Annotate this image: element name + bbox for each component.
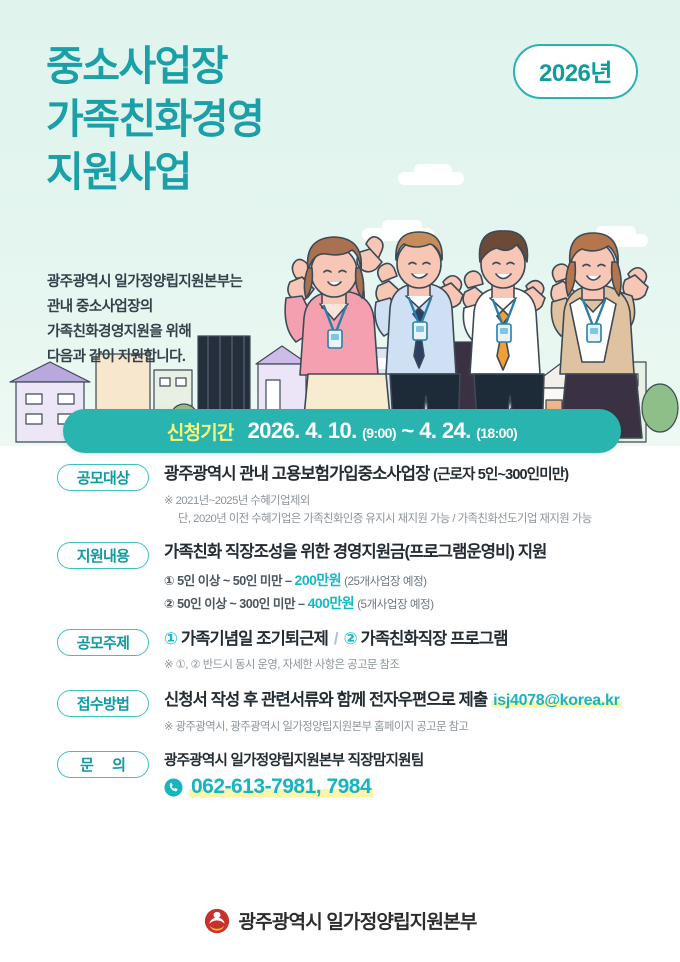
section-body-contact: 광주광역시 일가정양립지원본부 직장맘지원팀 062-613-7981, 798… (149, 749, 680, 799)
section-body-support: 가족친화 직장조성을 위한 경영지원금(프로그램운영비) 지원 ① 5인 이상 … (149, 540, 680, 615)
section-heading-target: 광주광역시 관내 고용보험가입중소사업장 (근로자 5인~300인미만) (164, 462, 680, 487)
section-note-submission: ※ 광주광역시, 광주광역시 일가정양립지원본부 홈페이지 공고문 참고 (164, 719, 680, 737)
period-end-time: (18:00) (476, 425, 517, 441)
title-line-1: 중소사업장 (46, 40, 263, 93)
cloud-2 (414, 164, 452, 176)
year-badge: 2026년 (513, 44, 638, 99)
section-body-target: 광주광역시 관내 고용보험가입중소사업장 (근로자 5인~300인미만) ※ 2… (149, 462, 680, 528)
contact-phone-number[interactable]: 062-613-7981, 7984 (189, 775, 373, 799)
support-detail-2-prefix: ② 50인 이상 ~ 300인 미만 – (164, 597, 305, 611)
section-body-topic: ① 가족기념일 조기퇴근제/② 가족친화직장 프로그램 ※ ①, ② 반드시 동… (149, 627, 680, 675)
title-line-3: 지원사업 (46, 146, 263, 199)
sections-area: 공모대상 광주광역시 관내 고용보험가입중소사업장 (근로자 5인~300인미만… (0, 462, 680, 804)
support-detail-2-amount: 400만원 (308, 595, 355, 611)
gwangju-city-logo-icon (204, 908, 230, 934)
section-heading-support: 가족친화 직장조성을 위한 경영지원금(프로그램운영비) 지원 (164, 540, 680, 564)
support-detail-2-tail: (5개사업장 예정) (357, 598, 433, 611)
period-start-date: 2026. 4. 10. (248, 418, 357, 443)
topic-1-label: 가족기념일 조기퇴근제 (181, 630, 328, 648)
section-note-target: ※ 2021년~2025년 수혜기업제외 단, 2020년 이전 수혜기업은 가… (164, 493, 680, 528)
poster-title: 중소사업장 가족친화경영 지원사업 (46, 40, 263, 199)
support-detail-1-prefix: ① 5인 이상 ~ 50인 미만 – (164, 574, 292, 588)
support-detail-1-tail: (25개사업장 예정) (344, 575, 426, 588)
target-note-1: ※ 2021년~2025년 수혜기업제외 (164, 495, 310, 507)
intro-line-3: 가족친화경영지원을 위해 (47, 320, 242, 345)
footer-organization-name: 광주광역시 일가정양립지원본부 (239, 907, 477, 934)
section-pill-topic: 공모주제 (57, 629, 149, 656)
target-note-2: 단, 2020년 이전 수혜기업은 가족친화인증 유지시 재지원 가능 / 가족… (164, 511, 680, 529)
title-line-2: 가족친화경영 (46, 93, 263, 146)
intro-line-2: 관내 중소사업장의 (47, 295, 242, 320)
period-label: 신청기간 (167, 418, 234, 445)
intro-paragraph: 광주광역시 일가정양립지원본부는 관내 중소사업장의 가족친화경영지원을 위해 … (47, 270, 242, 370)
target-heading-main: 광주광역시 관내 고용보험가입중소사업장 (164, 465, 429, 483)
support-detail-1-amount: 200만원 (295, 572, 342, 588)
intro-line-4: 다음과 같이 지원합니다. (47, 345, 242, 370)
topic-2-number: ② (344, 630, 357, 648)
section-heading-submission: 신청서 작성 후 관련서류와 함께 전자우편으로 제출 isj4078@kore… (164, 688, 680, 713)
footer: 광주광역시 일가정양립지원본부 (0, 907, 680, 934)
target-heading-paren: (근로자 5인~300인미만) (433, 467, 568, 483)
people-illustration (260, 186, 680, 446)
period-tilde: ~ (401, 418, 413, 443)
application-period-banner: 신청기간 2026. 4. 10. (9:00) ~ 4. 24. (18:00… (63, 409, 621, 453)
section-body-submission: 신청서 작성 후 관련서류와 함께 전자우편으로 제출 isj4078@kore… (149, 688, 680, 737)
period-end-date: 4. 24. (419, 418, 470, 443)
intro-line-1: 광주광역시 일가정양립지원본부는 (47, 270, 242, 295)
contact-org: 광주광역시 일가정양립지원본부 직장맘지원팀 (164, 749, 680, 770)
poster-root: 중소사업장 가족친화경영 지원사업 2026년 광주광역시 일가정양립지원본부는… (0, 0, 680, 962)
topic-1-number: ① (164, 630, 177, 648)
support-detail-2: ② 50인 이상 ~ 300인 미만 – 400만원 (5개사업장 예정) (164, 593, 680, 615)
topic-separator: / (328, 630, 344, 648)
section-pill-submission: 접수방법 (57, 690, 149, 717)
period-value: 2026. 4. 10. (9:00) ~ 4. 24. (18:00) (248, 418, 517, 444)
section-submission: 접수방법 신청서 작성 후 관련서류와 함께 전자우편으로 제출 isj4078… (0, 688, 680, 737)
phone-icon (164, 778, 183, 797)
section-pill-contact: 문 의 (57, 751, 149, 778)
topic-2-label: 가족친화직장 프로그램 (361, 630, 508, 648)
submission-email[interactable]: isj4078@korea.kr (491, 692, 621, 709)
section-heading-topic: ① 가족기념일 조기퇴근제/② 가족친화직장 프로그램 (164, 627, 680, 651)
section-target: 공모대상 광주광역시 관내 고용보험가입중소사업장 (근로자 5인~300인미만… (0, 462, 680, 528)
section-support: 지원내용 가족친화 직장조성을 위한 경영지원금(프로그램운영비) 지원 ① 5… (0, 540, 680, 615)
support-detail-1: ① 5인 이상 ~ 50인 미만 – 200만원 (25개사업장 예정) (164, 570, 680, 592)
section-pill-target: 공모대상 (57, 464, 149, 491)
section-topic: 공모주제 ① 가족기념일 조기퇴근제/② 가족친화직장 프로그램 ※ ①, ② … (0, 627, 680, 675)
period-start-time: (9:00) (362, 425, 396, 441)
contact-phone-row: 062-613-7981, 7984 (164, 775, 680, 799)
submission-heading-main: 신청서 작성 후 관련서류와 함께 전자우편으로 제출 (164, 691, 487, 709)
section-note-topic: ※ ①, ② 반드시 동시 운영, 자세한 사항은 공고문 참조 (164, 657, 680, 675)
section-contact: 문 의 광주광역시 일가정양립지원본부 직장맘지원팀 062-613-7981,… (0, 749, 680, 799)
section-pill-support: 지원내용 (57, 542, 149, 569)
